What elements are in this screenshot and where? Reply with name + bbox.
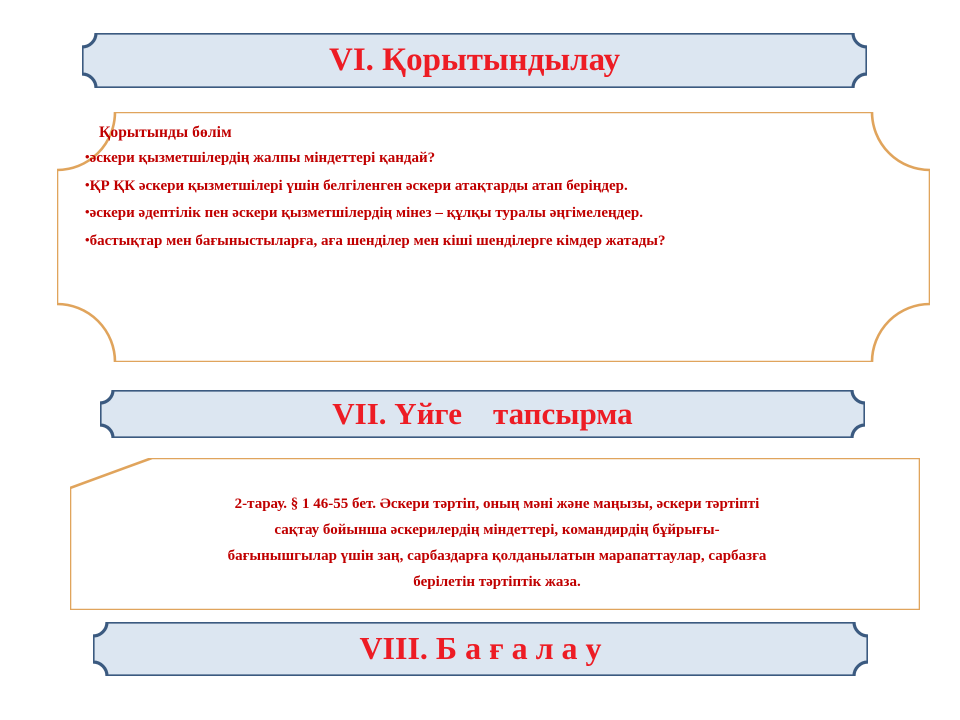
homework-line-1: 2-тарау. § 1 46-55 бет. Әскери тәртіп, о… bbox=[104, 491, 890, 517]
homework-line-3: бағынышгылар үшін заң, сарбаздарға қолда… bbox=[104, 543, 890, 569]
conclusion-item-1-text: әскери қызметшілердің жалпы міндеттері қ… bbox=[90, 150, 436, 166]
conclusion-item-4: •бастықтар мен бағыныстыларға, аға шенді… bbox=[85, 227, 896, 255]
conclusion-item-3-text: әскери әдептілік пен әскери қызметшілерд… bbox=[90, 205, 643, 221]
homework-line-4: берілетін тәртіптік жаза. bbox=[104, 569, 890, 595]
homework-line-2: сақтау бойынша әскерилердің міндеттері, … bbox=[104, 517, 890, 543]
conclusion-heading: Қорытынды бөлім bbox=[99, 124, 896, 142]
conclusion-item-4-text: бастықтар мен бағыныстыларға, аға шенділ… bbox=[90, 233, 666, 249]
banner-viii: VIII. Б а ғ а л а у bbox=[93, 622, 868, 676]
slide-canvas: VI. Қорытындылау Қорытынды бөлім •әскери… bbox=[0, 0, 960, 720]
conclusion-item-2: •ҚР ҚК әскери қызметшілері үшін белгілен… bbox=[85, 172, 896, 200]
homework-text: 2-тарау. § 1 46-55 бет. Әскери тәртіп, о… bbox=[70, 458, 920, 595]
banner-vii-title: VII. Үйге тапсырма bbox=[332, 398, 632, 431]
banner-vi-title: VI. Қорытындылау bbox=[329, 43, 620, 78]
conclusion-box: Қорытынды бөлім •әскери қызметшілердің ж… bbox=[57, 112, 930, 362]
banner-vi: VI. Қорытындылау bbox=[82, 33, 867, 88]
homework-box: 2-тарау. § 1 46-55 бет. Әскери тәртіп, о… bbox=[70, 458, 920, 610]
conclusion-item-1: •әскери қызметшілердің жалпы міндеттері … bbox=[85, 144, 896, 172]
banner-viii-title: VIII. Б а ғ а л а у bbox=[359, 632, 601, 666]
conclusion-content: Қорытынды бөлім •әскери қызметшілердің ж… bbox=[57, 112, 930, 254]
banner-vii: VII. Үйге тапсырма bbox=[100, 390, 865, 438]
conclusion-item-2-text: ҚР ҚК әскери қызметшілері үшін белгіленг… bbox=[90, 178, 628, 194]
conclusion-item-3: •әскери әдептілік пен әскери қызметшілер… bbox=[85, 199, 896, 227]
